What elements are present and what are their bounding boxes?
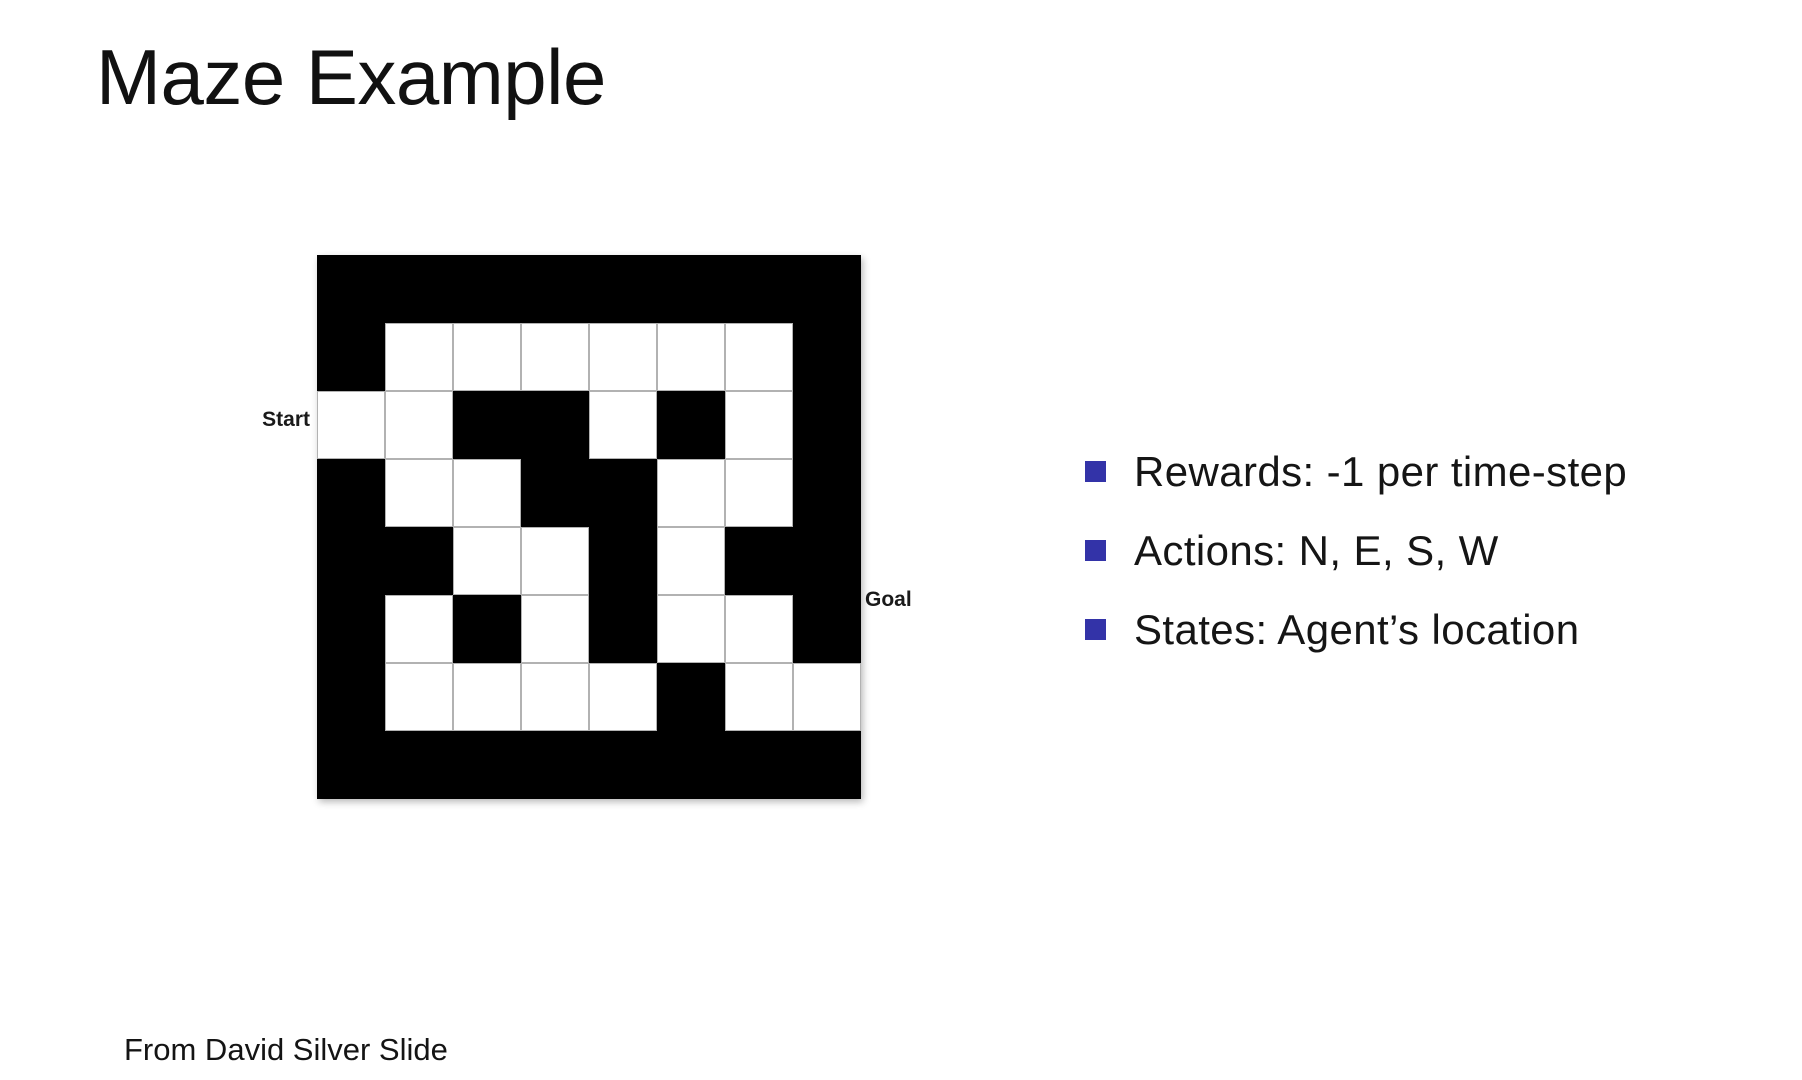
maze-cell-1-3 [521, 323, 589, 391]
maze-cell-5-6 [725, 595, 793, 663]
page-title: Maze Example [96, 38, 606, 116]
maze-cell-6-2 [453, 663, 521, 731]
maze-cell-3-1 [385, 459, 453, 527]
list-item-label: Actions: N, E, S, W [1134, 527, 1499, 574]
maze-cell-0-7 [793, 255, 861, 323]
square-bullet-icon [1085, 540, 1106, 561]
maze-cell-2-4 [589, 391, 657, 459]
maze-cell-4-7 [793, 527, 861, 595]
maze-cell-4-2 [453, 527, 521, 595]
maze-cell-0-5 [657, 255, 725, 323]
maze-cell-0-0 [317, 255, 385, 323]
maze-cell-1-4 [589, 323, 657, 391]
maze-cell-1-2 [453, 323, 521, 391]
maze-cell-6-6 [725, 663, 793, 731]
maze-cell-3-3 [521, 459, 589, 527]
maze-cell-4-1 [385, 527, 453, 595]
list-item: Rewards: -1 per time-step [1085, 448, 1705, 495]
maze-goal-cell [793, 663, 861, 731]
maze-cell-7-4 [589, 731, 657, 799]
maze-cell-6-1 [385, 663, 453, 731]
maze-cell-3-7 [793, 459, 861, 527]
maze-cell-2-7 [793, 391, 861, 459]
list-item: States: Agent’s location [1085, 606, 1705, 653]
maze-cell-5-5 [657, 595, 725, 663]
maze-goal-label: Goal [865, 588, 912, 612]
maze-cell-0-3 [521, 255, 589, 323]
maze-cell-0-6 [725, 255, 793, 323]
maze-cell-1-7 [793, 323, 861, 391]
maze-cell-2-3 [521, 391, 589, 459]
maze-start-cell [317, 391, 385, 459]
maze-cell-0-2 [453, 255, 521, 323]
maze-cell-5-7 [793, 595, 861, 663]
maze-cell-3-5 [657, 459, 725, 527]
maze-figure: Start Goal [240, 250, 900, 810]
maze-cell-7-3 [521, 731, 589, 799]
maze-cell-2-5 [657, 391, 725, 459]
maze-cell-4-3 [521, 527, 589, 595]
maze-cell-1-5 [657, 323, 725, 391]
maze-cell-2-6 [725, 391, 793, 459]
maze-cell-4-5 [657, 527, 725, 595]
maze-cell-5-0 [317, 595, 385, 663]
maze-cell-7-2 [453, 731, 521, 799]
maze-cell-1-1 [385, 323, 453, 391]
square-bullet-icon [1085, 619, 1106, 640]
maze-cell-2-1 [385, 391, 453, 459]
maze-cell-3-2 [453, 459, 521, 527]
maze-grid [317, 255, 861, 799]
maze-cell-4-6 [725, 527, 793, 595]
maze-cell-1-6 [725, 323, 793, 391]
maze-cell-7-6 [725, 731, 793, 799]
maze-cell-0-1 [385, 255, 453, 323]
maze-cell-3-6 [725, 459, 793, 527]
list-item: Actions: N, E, S, W [1085, 527, 1705, 574]
maze-cell-5-1 [385, 595, 453, 663]
maze-cell-1-0 [317, 323, 385, 391]
list-item-label: Rewards: -1 per time-step [1134, 448, 1627, 495]
maze-cell-7-1 [385, 731, 453, 799]
maze-cell-5-4 [589, 595, 657, 663]
maze-cell-6-5 [657, 663, 725, 731]
maze-cell-6-3 [521, 663, 589, 731]
maze-cell-0-4 [589, 255, 657, 323]
maze-cell-5-3 [521, 595, 589, 663]
list-item-label: States: Agent’s location [1134, 606, 1579, 653]
maze-cell-5-2 [453, 595, 521, 663]
square-bullet-icon [1085, 461, 1106, 482]
maze-cell-7-0 [317, 731, 385, 799]
maze-cell-7-5 [657, 731, 725, 799]
maze-cell-4-4 [589, 527, 657, 595]
mdp-definition-list: Rewards: -1 per time-step Actions: N, E,… [1085, 448, 1705, 685]
maze-cell-7-7 [793, 731, 861, 799]
maze-cell-2-2 [453, 391, 521, 459]
maze-cell-3-0 [317, 459, 385, 527]
footer-credit: From David Silver Slide [124, 1032, 448, 1068]
maze-cell-6-4 [589, 663, 657, 731]
maze-cell-3-4 [589, 459, 657, 527]
maze-cell-4-0 [317, 527, 385, 595]
maze-cell-6-0 [317, 663, 385, 731]
maze-start-label: Start [240, 408, 310, 432]
